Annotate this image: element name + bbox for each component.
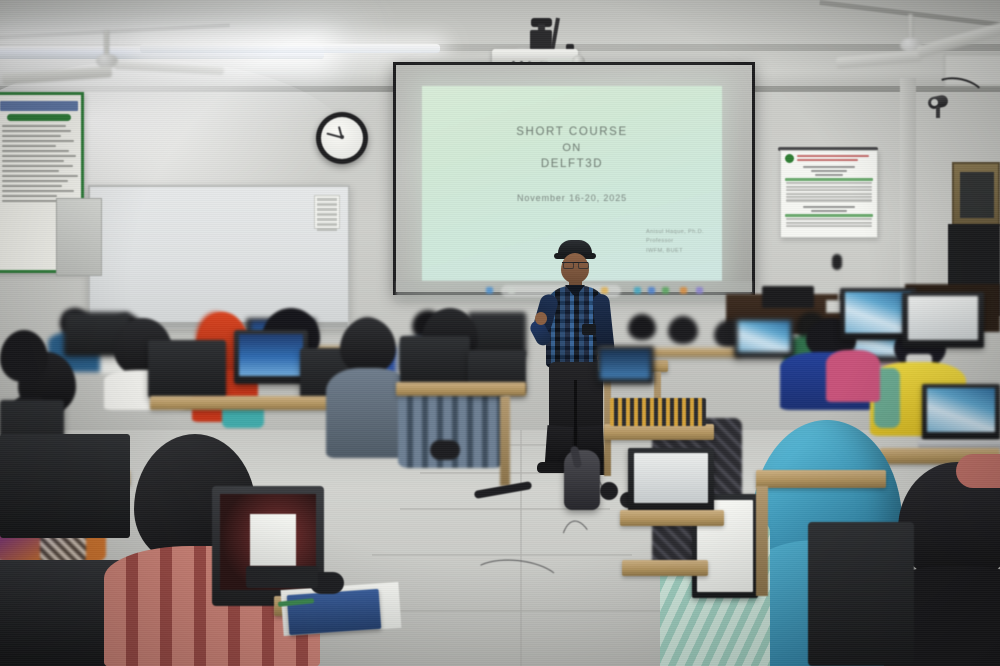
keyboard-foreground (246, 566, 318, 588)
slide-date: November 16-20, 2025 (422, 193, 722, 203)
headphones-icon (430, 440, 460, 460)
electrical-cabinet (952, 162, 1000, 226)
edge-icon[interactable] (634, 287, 641, 294)
student-pink-top (826, 340, 880, 400)
table-header-row (785, 178, 873, 181)
slide-line-1: SHORT COURSE (422, 126, 722, 138)
ceiling-fan-left (60, 30, 230, 90)
app-icon-orange[interactable] (680, 287, 687, 294)
poster-badge (7, 114, 71, 121)
camera-mount (936, 106, 940, 118)
desk-mid-2 (150, 396, 340, 410)
desk-right-mid (756, 470, 886, 488)
slide-line-2: ON (422, 142, 722, 154)
presenter-shoe-left (537, 462, 567, 473)
credit-name: Anisul Haque, Ph.D. (646, 228, 704, 238)
laptop-right-3 (922, 384, 1000, 440)
monitor-right-fg (808, 522, 914, 666)
laptop-back-1 (596, 346, 654, 384)
microphone-icon (832, 254, 842, 270)
desk-centre-leg (500, 396, 510, 486)
university-logo-icon (785, 154, 794, 163)
app-icon-green[interactable] (662, 287, 669, 294)
poster-cover-panel (56, 198, 102, 276)
laptop-centre-right-lid (628, 448, 714, 512)
chair-wheel (600, 482, 618, 500)
desk-right-leg (756, 486, 768, 596)
wall-pillar (900, 78, 916, 318)
whiteboard-note (314, 195, 340, 229)
desk-centre-right (604, 424, 714, 440)
desk-centre (396, 382, 526, 396)
desk-centre-right-2 (620, 510, 724, 526)
app-icon-purple[interactable] (696, 287, 703, 294)
wall-clock (316, 112, 368, 164)
app-icon-blue[interactable] (648, 287, 655, 294)
projector-mount-plate (530, 30, 552, 50)
slide-credit-block: Anisul Haque, Ph.D. Professor IWFM, BUET (646, 228, 704, 257)
camera-lens (931, 99, 938, 106)
laptop-centre-right (610, 398, 706, 426)
start-icon[interactable] (486, 287, 493, 294)
desk-right-mid-2 (622, 560, 708, 576)
slide-title-block: SHORT COURSE ON DELFT3D (422, 126, 722, 170)
class-routine-poster (780, 150, 878, 238)
search-icon[interactable] (508, 287, 515, 294)
monitor-centre-1 (400, 336, 470, 386)
credit-affiliation: IWFM, BUET (646, 247, 704, 257)
student-far-left-head (0, 330, 54, 390)
backpack (564, 450, 600, 510)
monitor-mid-2 (148, 340, 226, 398)
classroom-photo: SHORT COURSE ON DELFT3D November 16-20, … (0, 0, 1000, 666)
laptop-right-2 (902, 292, 984, 348)
blue-notebook (287, 589, 382, 635)
clock-face (321, 117, 363, 159)
credit-role: Professor (646, 237, 704, 247)
table-header-row-2 (785, 214, 873, 217)
poster-title-bar (0, 101, 78, 111)
slide-line-3: DELFT3D (422, 158, 722, 170)
monitor-mid-3 (234, 330, 308, 384)
